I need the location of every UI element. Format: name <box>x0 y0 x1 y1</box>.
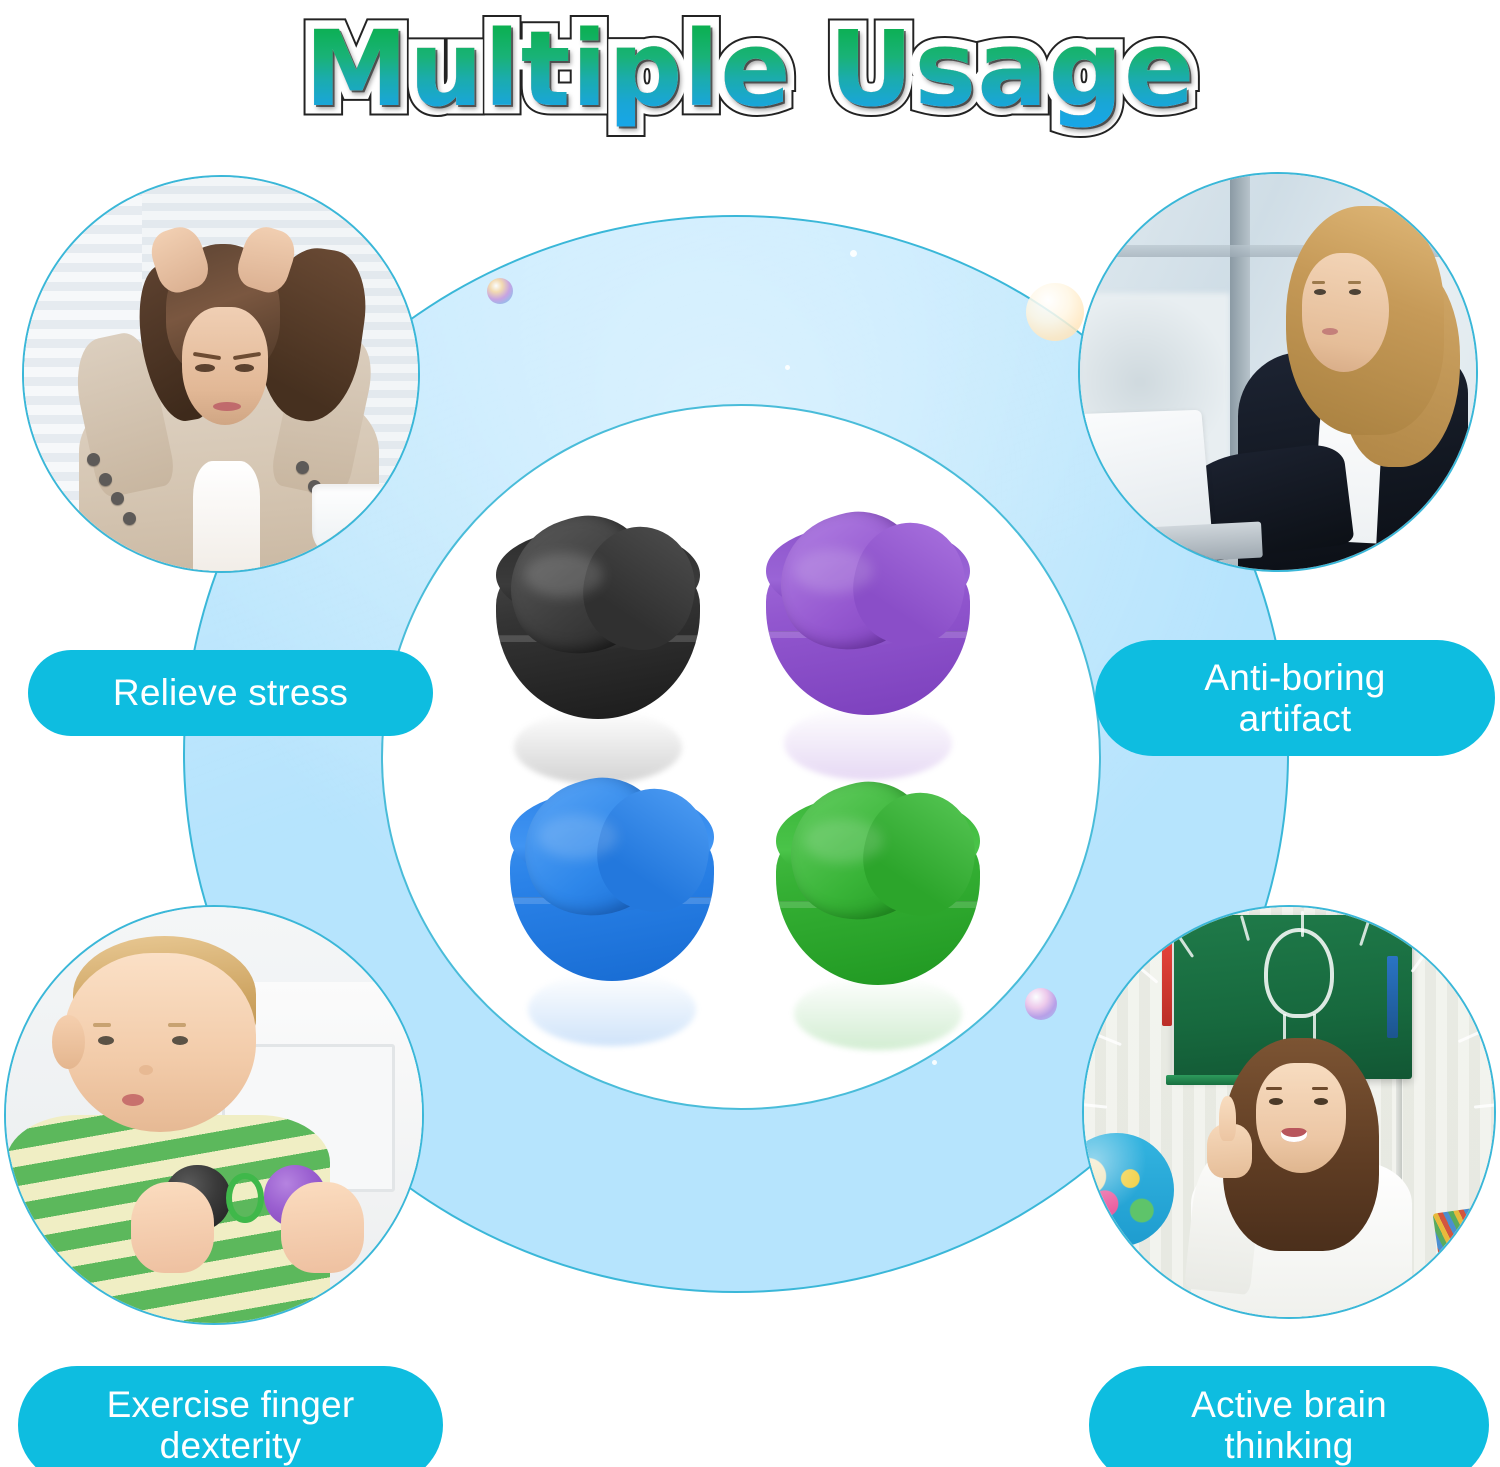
pointing-index-finger <box>1219 1096 1235 1141</box>
label-line-1: Active brain <box>1191 1384 1387 1425</box>
photo-anti-boring-artifact <box>1078 172 1478 572</box>
eye-left <box>98 1036 114 1045</box>
photo-relieve-stress <box>22 175 420 573</box>
label-text: Exercise finger dexterity <box>107 1384 355 1467</box>
highlight-gloss <box>538 815 617 859</box>
ear <box>52 1015 85 1069</box>
head <box>64 953 255 1132</box>
label-text: Relieve stress <box>113 672 348 713</box>
highlight-gloss <box>794 549 873 593</box>
fidget-ball-purple <box>752 497 984 715</box>
red-marker <box>1162 936 1172 1026</box>
mouth <box>213 402 241 411</box>
product-group <box>480 495 1020 1015</box>
page-title: Multiple Usage Multiple Usage Multiple U… <box>0 4 1500 134</box>
label-line-1: Anti-boring <box>1204 657 1385 698</box>
sleeve-button <box>123 512 136 525</box>
hand-left <box>131 1182 214 1274</box>
photo-active-brain-thinking <box>1082 905 1496 1319</box>
title-fill-layer: Multiple Usage <box>305 8 1196 130</box>
eye-left <box>1314 289 1326 295</box>
sleeve-button <box>296 461 309 474</box>
lightbulb-icon <box>1264 928 1334 1018</box>
globe-stand <box>1100 1243 1116 1272</box>
fidget-ball-blue <box>496 763 728 981</box>
reflection <box>794 976 961 1050</box>
blue-marker <box>1387 956 1397 1038</box>
label-line-2: dexterity <box>160 1425 302 1466</box>
sleeve-button <box>87 453 100 466</box>
label-active-brain-thinking: Active brain thinking <box>1089 1366 1489 1467</box>
eyebrow-left <box>93 1023 111 1027</box>
title-outline-layer: Multiple Usage <box>305 17 1196 121</box>
coffee-cup <box>312 484 411 563</box>
hand-right <box>281 1182 364 1274</box>
photo-exercise-finger-dexterity <box>4 905 424 1325</box>
eyebrow-left <box>1266 1087 1282 1090</box>
label-exercise-finger-dexterity: Exercise finger dexterity <box>18 1366 443 1467</box>
sleeve-button <box>99 473 112 486</box>
eyebrow-right <box>1312 1087 1328 1090</box>
highlight-gloss <box>524 553 603 597</box>
eyebrow-right <box>1348 281 1361 284</box>
title-shadow-layer: Multiple Usage <box>305 17 1196 121</box>
fidget-ball-black <box>482 501 714 719</box>
white-blouse <box>193 461 260 573</box>
eye-right <box>1314 1098 1328 1105</box>
infographic-canvas: Multiple Usage Multiple Usage Multiple U… <box>0 0 1500 1467</box>
label-text: Anti-boring artifact <box>1204 657 1385 740</box>
sleeve-button <box>111 492 124 505</box>
eyebrow-right <box>168 1023 186 1027</box>
colored-pencils <box>1432 1207 1490 1279</box>
label-anti-boring-artifact: Anti-boring artifact <box>1095 640 1495 756</box>
label-line-2: artifact <box>1239 698 1352 739</box>
fidget-toy-green-clip <box>226 1173 263 1223</box>
label-text: Active brain thinking <box>1191 1384 1387 1467</box>
label-relieve-stress: Relieve stress <box>28 650 433 736</box>
label-line-1: Exercise finger <box>107 1384 355 1425</box>
label-line-2: thinking <box>1224 1425 1353 1466</box>
eye-left <box>1269 1098 1283 1105</box>
eye-right <box>1349 289 1361 295</box>
highlight-gloss <box>804 819 883 863</box>
eyebrow-left <box>1312 281 1325 284</box>
reflection <box>528 972 695 1046</box>
fidget-ball-green <box>762 767 994 985</box>
